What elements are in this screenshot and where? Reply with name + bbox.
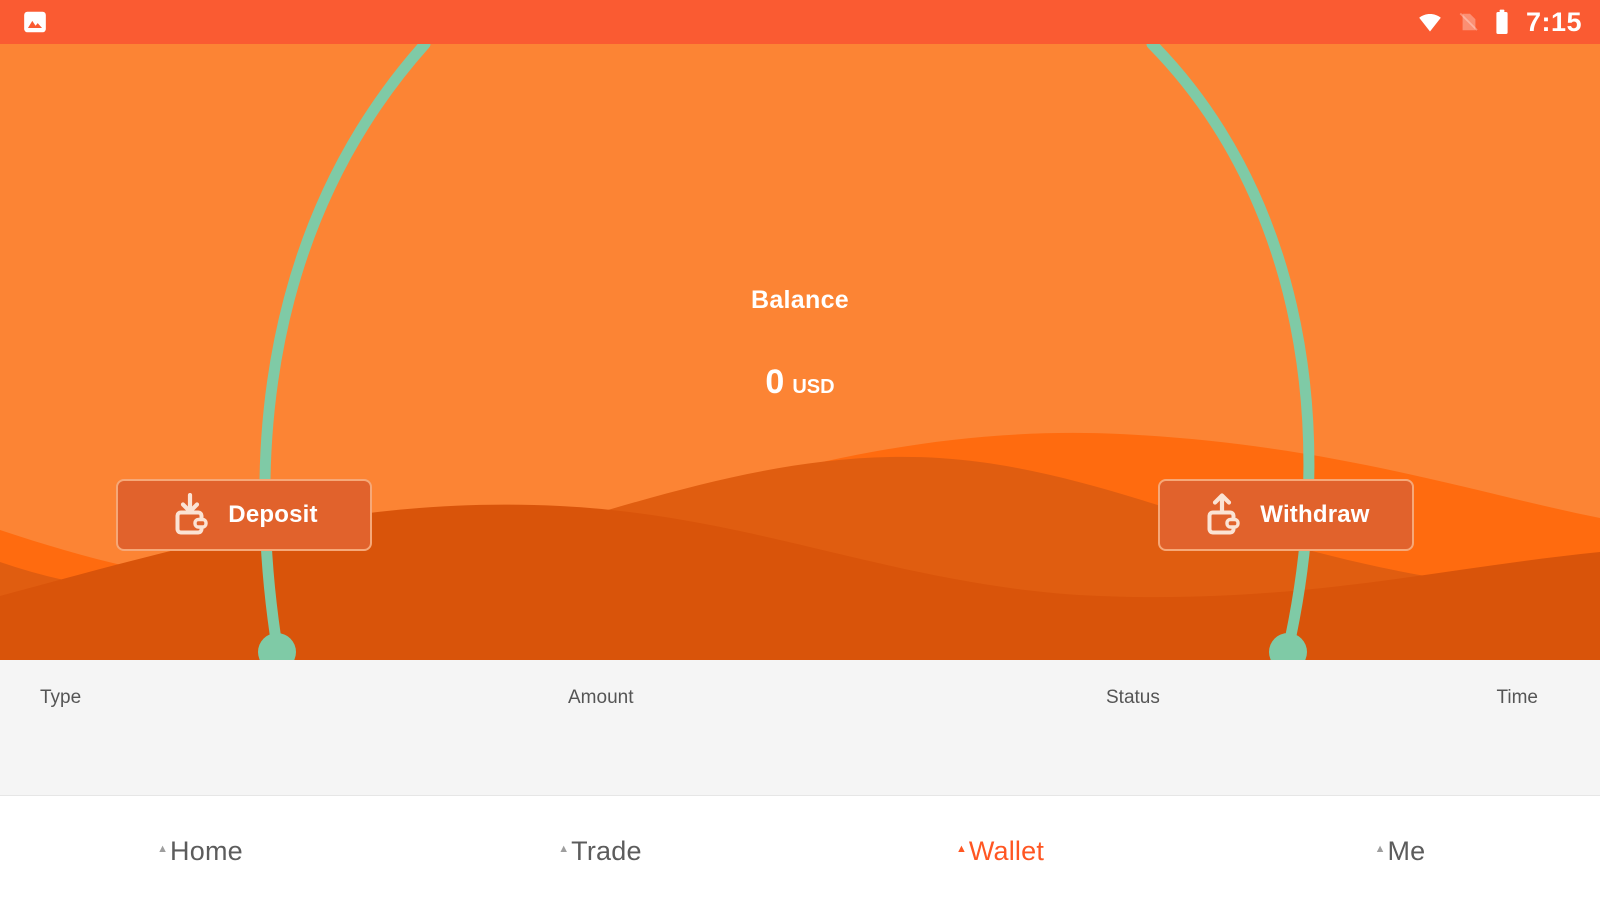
- trade-icon: ▲: [558, 844, 569, 855]
- wallet-icon: ▲: [956, 844, 967, 855]
- withdraw-button-label: Withdraw: [1260, 501, 1369, 529]
- nav-item-trade[interactable]: ▲ Trade: [400, 796, 800, 900]
- deposit-button-label: Deposit: [228, 501, 317, 529]
- bottom-navigation-bar: ▲ Home ▲ Trade ▲ Wallet ▲ Me: [0, 795, 1600, 900]
- withdraw-button[interactable]: Withdraw: [1158, 479, 1414, 551]
- no-sim-icon: [1458, 10, 1480, 34]
- column-header-type: Type: [40, 687, 81, 709]
- column-header-time: Time: [1496, 687, 1538, 709]
- column-header-status: Status: [1106, 687, 1160, 709]
- deposit-button[interactable]: Deposit: [116, 479, 372, 551]
- status-bar-clock: 7:15: [1526, 9, 1582, 36]
- home-icon: ▲: [157, 844, 168, 855]
- transactions-panel: Type Amount Status Time: [0, 660, 1600, 795]
- wifi-icon: [1416, 10, 1444, 34]
- wallet-upload-icon: [1202, 493, 1242, 537]
- image-icon: [22, 9, 48, 35]
- status-bar: 7:15: [0, 0, 1600, 44]
- battery-full-icon: [1494, 9, 1510, 35]
- balance-hero: Balance 0 USD Deposit: [0, 44, 1600, 660]
- transactions-list[interactable]: [0, 736, 1600, 795]
- nav-item-trade-label: Trade: [571, 836, 642, 867]
- wallet-screen: 7:15 Balance 0 USD: [0, 0, 1600, 900]
- nav-item-home[interactable]: ▲ Home: [0, 796, 400, 900]
- column-header-amount: Amount: [568, 687, 633, 709]
- wallet-download-icon: [170, 493, 210, 537]
- nav-item-wallet[interactable]: ▲ Wallet: [800, 796, 1200, 900]
- nav-item-me-label: Me: [1387, 836, 1425, 867]
- nav-item-wallet-label: Wallet: [969, 836, 1044, 867]
- nav-item-me[interactable]: ▲ Me: [1200, 796, 1600, 900]
- person-icon: ▲: [1375, 844, 1386, 855]
- nav-item-home-label: Home: [170, 836, 243, 867]
- transactions-header-row: Type Amount Status Time: [0, 660, 1600, 736]
- status-bar-right: 7:15: [1416, 9, 1582, 36]
- action-button-row: Deposit Withdraw: [0, 44, 1600, 660]
- status-bar-left: [22, 9, 48, 35]
